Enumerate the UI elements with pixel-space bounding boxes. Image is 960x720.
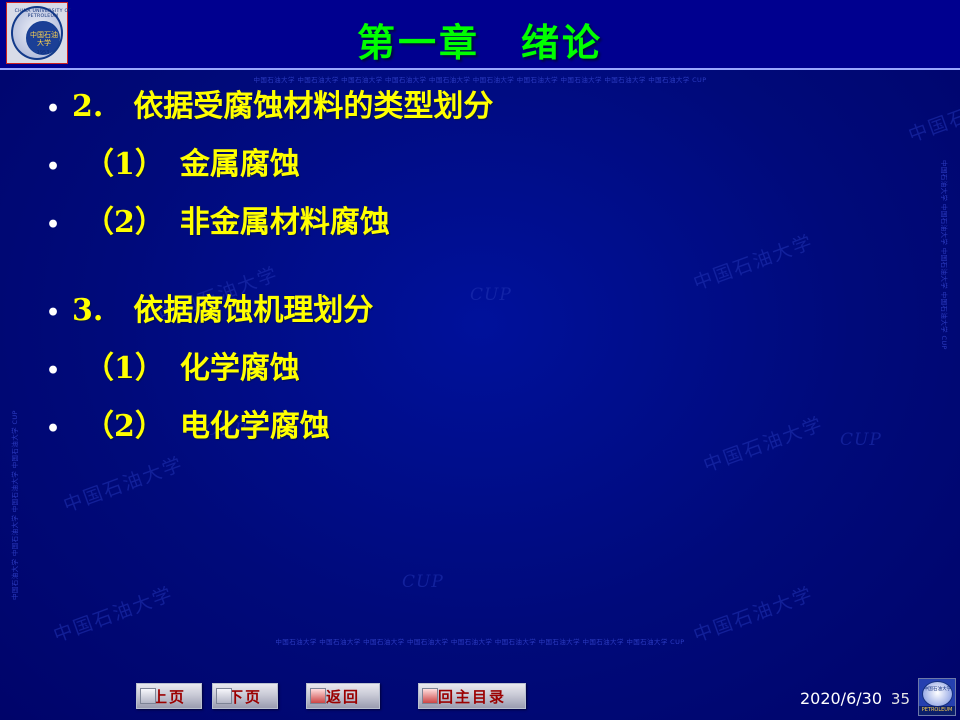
title-bar: CHINA UNIVERSITY OF PETROLEUM 中国石油大学 195… — [0, 0, 960, 70]
home-icon — [422, 688, 438, 704]
bullet-dot-icon: • — [46, 150, 72, 184]
next-page-label: 下页 — [228, 686, 262, 707]
footer-bar: 上页 下页 返回 回主目录 2020/6/30 35 中国石油大学 PETROL… — [0, 668, 960, 720]
bullet-text: （1） 金属腐蚀 — [72, 150, 926, 180]
list-item: • 3. 依据腐蚀机理划分 — [46, 296, 926, 330]
bullet-text: （2） 非金属材料腐蚀 — [72, 208, 926, 238]
page-number: 35 — [891, 690, 910, 708]
bullet-dot-icon: • — [46, 296, 72, 330]
bullet-list: • 2. 依据受腐蚀材料的类型划分 • （1） 金属腐蚀 • （2） 非金属材料… — [46, 92, 926, 470]
bullet-text: （1） 化学腐蚀 — [72, 354, 926, 384]
micro-text-left: 中国石油大学 中国石油大学 中国石油大学 中国石油大学 CUP — [9, 410, 19, 600]
prev-page-button[interactable]: 上页 — [136, 683, 202, 709]
main-menu-label: 回主目录 — [438, 686, 506, 707]
watermark-english: CUP — [402, 572, 444, 592]
watermark-chinese: 中国石油大学 — [49, 579, 177, 647]
watermark-chinese: 中国石油大学 — [689, 579, 817, 647]
list-item: • （2） 非金属材料腐蚀 — [46, 208, 926, 242]
arrow-left-icon — [140, 688, 156, 704]
list-item: • （1） 金属腐蚀 — [46, 150, 926, 184]
bullet-dot-icon: • — [46, 412, 72, 446]
micro-text-bottom: 中国石油大学 中国石油大学 中国石油大学 中国石油大学 中国石油大学 中国石油大… — [0, 636, 960, 646]
list-item: • （2） 电化学腐蚀 — [46, 412, 926, 446]
micro-text-right: 中国石油大学 中国石油大学 中国石油大学 中国石油大学 CUP — [940, 160, 950, 350]
return-icon — [310, 688, 326, 704]
bullet-text: （2） 电化学腐蚀 — [72, 412, 926, 442]
list-item: • 2. 依据受腐蚀材料的类型划分 — [46, 92, 926, 126]
corner-logo: 中国石油大学 PETROLEUM — [918, 678, 956, 716]
slide: 中国石油大学 中国石油大学 中国石油大学 中国石油大学 中国石油大学 中国石油大… — [0, 0, 960, 720]
arrow-right-icon — [216, 688, 232, 704]
slide-date: 2020/6/30 — [800, 689, 882, 708]
corner-logo-ring: 中国石油大学 — [922, 681, 953, 707]
next-page-button[interactable]: 下页 — [212, 683, 278, 709]
return-button[interactable]: 返回 — [306, 683, 380, 709]
return-label: 返回 — [326, 686, 360, 707]
bullet-text: 2. 依据受腐蚀材料的类型划分 — [72, 92, 926, 122]
page-title: 第一章 绪论 — [0, 12, 960, 67]
bullet-text: 3. 依据腐蚀机理划分 — [72, 296, 926, 326]
bullet-spacer — [46, 266, 926, 296]
main-menu-button[interactable]: 回主目录 — [418, 683, 526, 709]
bullet-dot-icon: • — [46, 354, 72, 388]
micro-text-top: 中国石油大学 中国石油大学 中国石油大学 中国石油大学 中国石油大学 中国石油大… — [0, 74, 960, 84]
corner-logo-bar: PETROLEUM — [919, 706, 955, 715]
bullet-dot-icon: • — [46, 208, 72, 242]
bullet-dot-icon: • — [46, 92, 72, 126]
list-item: • （1） 化学腐蚀 — [46, 354, 926, 388]
prev-page-label: 上页 — [152, 686, 186, 707]
